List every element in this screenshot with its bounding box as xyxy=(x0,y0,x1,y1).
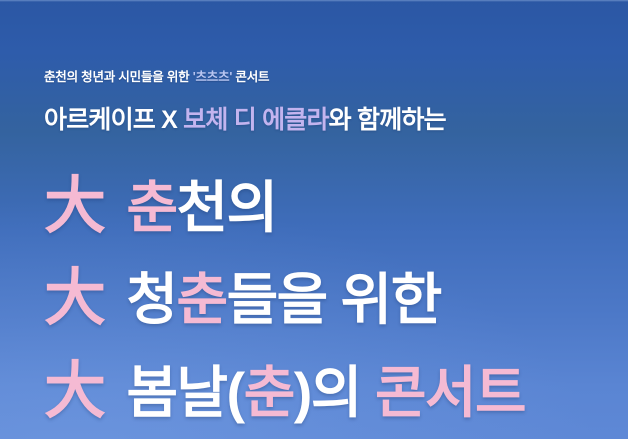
kicker-line: 춘천의 청년과 시민들을 위한 '츠츠츠' 콘서트 xyxy=(44,66,269,85)
headline-line-1-text: 춘천의 xyxy=(127,163,277,244)
concert-poster: 춘천의 청년과 시민들을 위한 '츠츠츠' 콘서트 아르케이프 X 보체 디 에… xyxy=(0,0,628,439)
headline-line-2: 大 청춘들을 위한 xyxy=(44,255,441,336)
headline-3-white-before: 봄날( xyxy=(127,361,244,424)
headline-3-pink-inner: 춘 xyxy=(244,361,294,424)
headline-line-1: 大 춘천의 xyxy=(44,163,277,244)
headline-3-white-mid: )의 xyxy=(294,361,375,424)
headline-1-pink: 춘 xyxy=(127,176,177,239)
billing-line: 아르케이프 X 보체 디 에클라와 함께하는 xyxy=(44,100,446,136)
headline-line-3-text: 봄날(춘)의 콘서트 xyxy=(127,348,526,429)
kicker-accent-text: '츠츠츠' xyxy=(193,70,232,84)
billing-text-after: 와 함께하는 xyxy=(329,106,446,134)
kicker-text-before: 춘천의 청년과 시민들을 위한 xyxy=(44,70,193,84)
billing-text-before: 아르케이프 X xyxy=(44,106,183,134)
headline-2-pink: 춘 xyxy=(177,268,227,331)
headline-2-white-before: 청 xyxy=(127,268,177,331)
headline-2-white-after: 들을 위한 xyxy=(227,268,441,331)
headline-line-3: 大 봄날(춘)의 콘서트 xyxy=(44,348,525,429)
headline-line-2-text: 청춘들을 위한 xyxy=(127,255,441,336)
headline-1-white: 천의 xyxy=(177,176,277,239)
headline-3-pink-tail: 콘서트 xyxy=(375,361,525,424)
dai-kanji-icon: 大 xyxy=(44,176,105,238)
dai-kanji-icon: 大 xyxy=(44,268,105,330)
dai-kanji-icon: 大 xyxy=(44,361,105,423)
billing-artist-names: 보체 디 에클라 xyxy=(183,106,329,134)
poster-content: 춘천의 청년과 시민들을 위한 '츠츠츠' 콘서트 아르케이프 X 보체 디 에… xyxy=(44,0,628,439)
kicker-text-after: 콘서트 xyxy=(232,70,269,84)
